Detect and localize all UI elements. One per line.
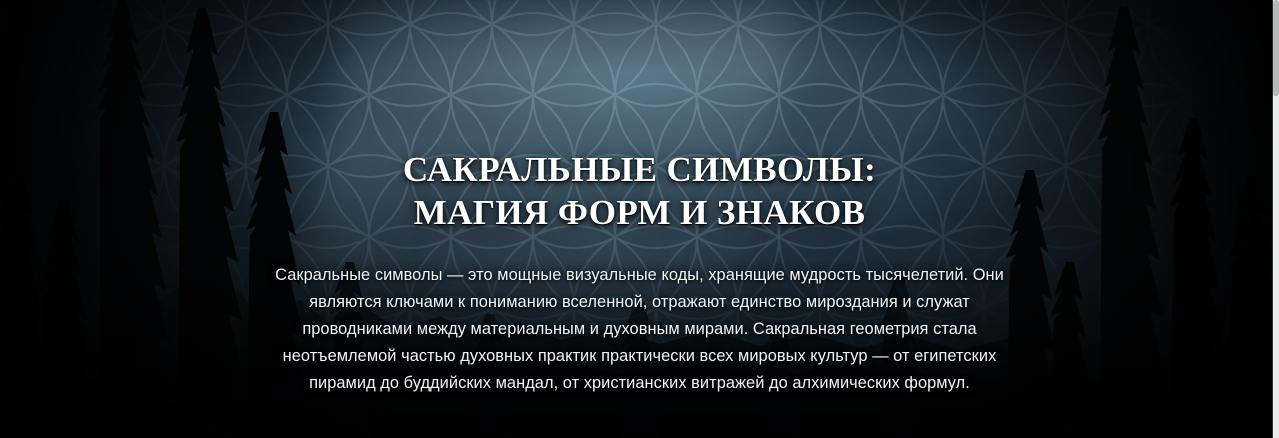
hero-content: САКРАЛЬНЫЕ СИМВОЛЫ: МАГИЯ ФОРМ И ЗНАКОВ …	[0, 0, 1279, 438]
page-scrollbar-thumb[interactable]	[1273, 0, 1279, 96]
page-title-line-1: САКРАЛЬНЫЕ СИМВОЛЫ:	[190, 148, 1090, 191]
page-title-line-2: МАГИЯ ФОРМ И ЗНАКОВ	[190, 191, 1090, 234]
page-title: САКРАЛЬНЫЕ СИМВОЛЫ: МАГИЯ ФОРМ И ЗНАКОВ	[190, 148, 1090, 234]
hero-description: Сакральные символы — это мощные визуальн…	[264, 262, 1016, 397]
hero-banner: САКРАЛЬНЫЕ СИМВОЛЫ: МАГИЯ ФОРМ И ЗНАКОВ …	[0, 0, 1279, 438]
